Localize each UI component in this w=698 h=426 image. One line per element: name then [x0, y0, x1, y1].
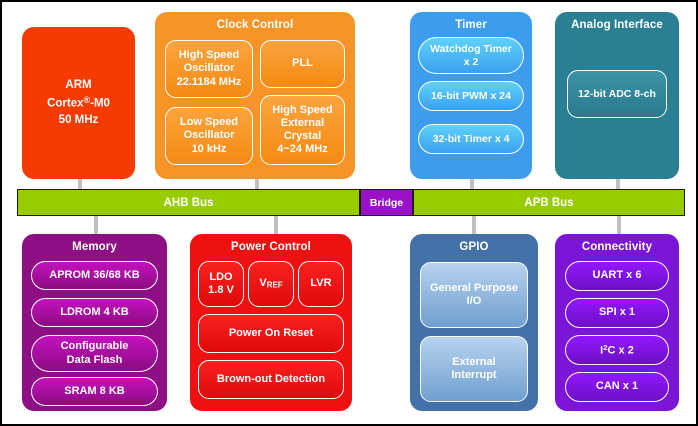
node-spi[interactable]: SPI x 1 — [565, 298, 669, 328]
node-label: Power On Reset — [229, 327, 313, 340]
node-label: LDO 1.8 V — [208, 271, 234, 297]
node-timer-32bit[interactable]: 32-bit Timer x 4 — [418, 124, 524, 154]
node-can[interactable]: CAN x 1 — [565, 372, 669, 402]
node-high-speed-oscillator[interactable]: High Speed Oscillator 22.1184 MHz — [165, 40, 253, 98]
node-pwm-16bit[interactable]: 16-bit PWM x 24 — [418, 81, 524, 111]
block-power-control[interactable]: Power Control LDO 1.8 V VREF LVR Power O… — [190, 234, 352, 411]
node-label: Configurable Data Flash — [61, 340, 129, 366]
arm-core-label: ARM Cortex®-M0 50 MHz — [47, 77, 110, 128]
power-control-title: Power Control — [190, 234, 352, 254]
node-brown-out-detection[interactable]: Brown-out Detection — [198, 360, 344, 399]
soc-block-diagram: ARM Cortex®-M0 50 MHz Clock Control High… — [0, 0, 698, 426]
node-i2c[interactable]: I2C x 2 — [565, 335, 669, 365]
node-label: PLL — [292, 57, 313, 70]
node-configurable-data-flash[interactable]: Configurable Data Flash — [31, 335, 158, 372]
bus-apb-label: APB Bus — [524, 197, 573, 209]
connectivity-title: Connectivity — [555, 234, 679, 254]
node-aprom[interactable]: APROM 36/68 KB — [31, 261, 158, 290]
bus-apb[interactable]: APB Bus — [413, 189, 685, 216]
node-label: VREF — [259, 277, 282, 290]
block-gpio[interactable]: GPIO General Purpose I/O External Interr… — [410, 234, 538, 411]
node-sram[interactable]: SRAM 8 KB — [31, 377, 158, 406]
node-label: External Interrupt — [451, 356, 496, 382]
node-label: High Speed External Crystal 4~24 MHz — [272, 104, 333, 157]
node-label: High Speed Oscillator 22.1184 MHz — [177, 49, 242, 89]
block-arm-core[interactable]: ARM Cortex®-M0 50 MHz — [22, 27, 135, 179]
node-label: LDROM 4 KB — [60, 306, 128, 319]
node-label: SRAM 8 KB — [64, 385, 125, 398]
node-uart[interactable]: UART x 6 — [565, 261, 669, 291]
node-pll[interactable]: PLL — [260, 40, 345, 88]
node-label: General Purpose I/O — [430, 282, 518, 308]
node-high-speed-external-crystal[interactable]: High Speed External Crystal 4~24 MHz — [260, 95, 345, 165]
node-adc-12bit[interactable]: 12-bit ADC 8-ch — [567, 70, 667, 118]
clock-control-title: Clock Control — [155, 12, 355, 32]
bus-bridge-label: Bridge — [370, 197, 403, 209]
block-connectivity[interactable]: Connectivity UART x 6 SPI x 1 I2C x 2 CA… — [555, 234, 679, 411]
node-low-speed-oscillator[interactable]: Low Speed Oscillator 10 kHz — [165, 107, 253, 165]
bus-ahb-label: AHB Bus — [164, 197, 214, 209]
node-label: Watchdog Timer x 2 — [430, 43, 512, 68]
bus-ahb[interactable]: AHB Bus — [17, 189, 360, 216]
block-clock-control[interactable]: Clock Control High Speed Oscillator 22.1… — [155, 12, 355, 179]
node-lvr[interactable]: LVR — [298, 261, 344, 307]
gpio-title: GPIO — [410, 234, 538, 254]
node-label: Brown-out Detection — [217, 373, 325, 386]
node-label: Low Speed Oscillator 10 kHz — [180, 116, 238, 156]
node-general-purpose-io[interactable]: General Purpose I/O — [420, 262, 528, 328]
analog-interface-title: Analog Interface — [555, 12, 679, 32]
node-label: UART x 6 — [593, 269, 642, 282]
memory-title: Memory — [22, 234, 167, 254]
node-label: 16-bit PWM x 24 — [431, 90, 511, 103]
node-external-interrupt[interactable]: External Interrupt — [420, 336, 528, 402]
node-power-on-reset[interactable]: Power On Reset — [198, 314, 344, 353]
bus-bridge[interactable]: Bridge — [360, 189, 413, 216]
block-timer[interactable]: Timer Watchdog Timer x 2 16-bit PWM x 24… — [410, 12, 532, 179]
node-vref[interactable]: VREF — [248, 261, 294, 307]
block-analog-interface[interactable]: Analog Interface 12-bit ADC 8-ch — [555, 12, 679, 179]
node-label: CAN x 1 — [596, 380, 638, 393]
node-label: 12-bit ADC 8-ch — [578, 88, 656, 101]
node-label: SPI x 1 — [599, 306, 635, 319]
block-memory[interactable]: Memory APROM 36/68 KB LDROM 4 KB Configu… — [22, 234, 167, 411]
node-watchdog-timer[interactable]: Watchdog Timer x 2 — [418, 37, 524, 74]
node-label: LVR — [310, 277, 331, 290]
node-label: I2C x 2 — [600, 343, 634, 358]
node-ldo[interactable]: LDO 1.8 V — [198, 261, 244, 307]
node-label: 32-bit Timer x 4 — [433, 133, 510, 146]
timer-title: Timer — [410, 12, 532, 32]
node-label: APROM 36/68 KB — [49, 269, 139, 282]
node-ldrom[interactable]: LDROM 4 KB — [31, 298, 158, 327]
